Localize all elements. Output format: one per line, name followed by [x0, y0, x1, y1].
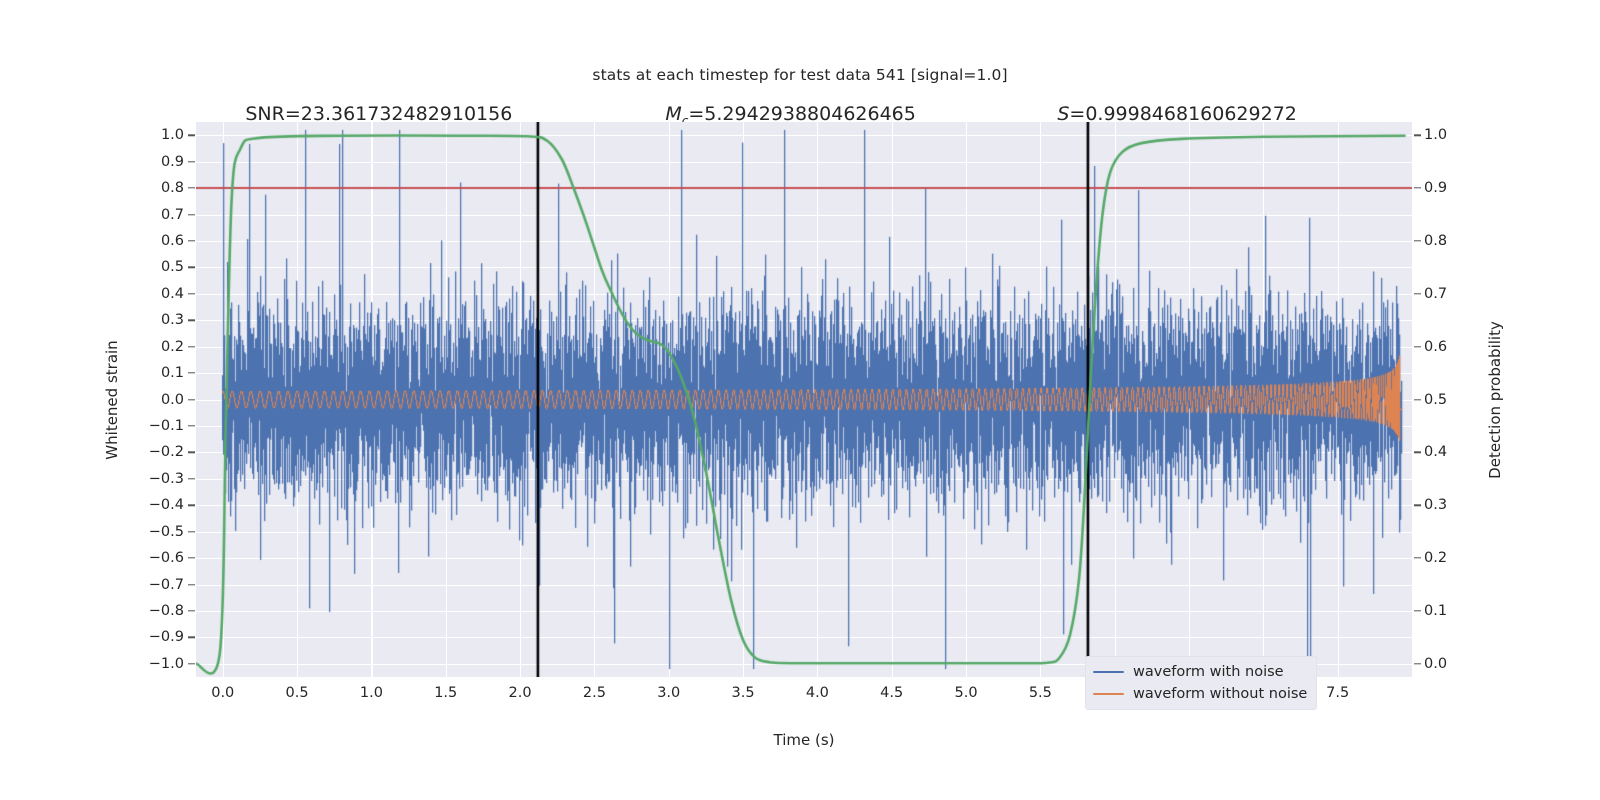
y-tick-mark-left: [188, 372, 195, 373]
y-tick-mark-left: [188, 267, 195, 268]
y-tick-label-left: −0.8: [149, 603, 184, 619]
y-tick-mark-left: [188, 663, 195, 664]
y-tick-label-right: 0.3: [1424, 497, 1447, 513]
y-tick-label-left: −1.0: [149, 656, 184, 672]
y-tick-label-right: 0.1: [1424, 603, 1447, 619]
y-tick-label-left: −0.9: [149, 629, 184, 645]
y-tick-label-left: 0.8: [161, 180, 184, 196]
y-tick-mark-right: [1414, 240, 1421, 241]
x-tick-label: 7.5: [1326, 685, 1349, 701]
legend-label-without-noise: waveform without noise: [1133, 686, 1307, 702]
legend: waveform with noise waveform without noi…: [1085, 656, 1317, 710]
y-tick-label-right: 1.0: [1424, 127, 1447, 143]
y-tick-mark-left: [188, 557, 195, 558]
x-tick-label: 5.5: [1029, 685, 1052, 701]
y-tick-label-left: 0.1: [161, 365, 184, 381]
y-tick-label-left: 0.0: [161, 392, 184, 408]
y-tick-mark-left: [188, 584, 195, 585]
x-tick-label: 5.0: [955, 685, 978, 701]
y-tick-mark-left: [188, 478, 195, 479]
y-axis-label-left: Whitened strain: [103, 340, 121, 459]
y-axis-label-right: Detection probability: [1486, 321, 1504, 479]
y-tick-label-left: 0.6: [161, 233, 184, 249]
y-tick-label-right: 0.0: [1424, 656, 1447, 672]
y-tick-label-left: −0.2: [149, 444, 184, 460]
y-tick-mark-right: [1414, 557, 1421, 558]
waveform-plot: [196, 122, 1412, 677]
y-tick-mark-left: [188, 161, 195, 162]
y-tick-mark-left: [188, 399, 195, 400]
y-tick-mark-right: [1414, 187, 1421, 188]
y-tick-label-left: 0.4: [161, 286, 184, 302]
y-tick-label-right: 0.2: [1424, 550, 1447, 566]
legend-label-with-noise: waveform with noise: [1133, 664, 1284, 680]
y-tick-mark-left: [188, 452, 195, 453]
y-tick-mark-left: [188, 610, 195, 611]
x-tick-label: 3.0: [657, 685, 680, 701]
y-tick-label-left: 0.3: [161, 312, 184, 328]
x-tick-label: 1.0: [360, 685, 383, 701]
x-tick-label: 3.5: [732, 685, 755, 701]
y-tick-label-left: −0.5: [149, 524, 184, 540]
y-tick-label-right: 0.5: [1424, 392, 1447, 408]
y-tick-label-left: −0.7: [149, 577, 184, 593]
y-tick-mark-left: [188, 240, 195, 241]
y-tick-label-left: 0.5: [161, 259, 184, 275]
legend-item[interactable]: waveform with noise: [1093, 662, 1307, 682]
x-tick-label: 2.0: [509, 685, 532, 701]
y-tick-label-left: −0.4: [149, 497, 184, 513]
y-tick-label-left: −0.1: [149, 418, 184, 434]
legend-swatch-without-noise: [1093, 693, 1124, 696]
y-tick-label-right: 0.6: [1424, 339, 1447, 355]
y-tick-label-left: −0.6: [149, 550, 184, 566]
y-tick-mark-right: [1414, 399, 1421, 400]
y-tick-label-left: 0.7: [161, 207, 184, 223]
y-tick-mark-left: [188, 135, 195, 136]
x-tick-label: 1.5: [434, 685, 457, 701]
y-tick-mark-left: [188, 187, 195, 188]
y-tick-mark-right: [1414, 293, 1421, 294]
x-axis-label: Time (s): [774, 731, 835, 749]
legend-item[interactable]: waveform without noise: [1093, 684, 1307, 704]
y-tick-label-right: 0.4: [1424, 444, 1447, 460]
y-tick-mark-left: [188, 531, 195, 532]
y-tick-mark-right: [1414, 663, 1421, 664]
y-tick-mark-right: [1414, 135, 1421, 136]
y-tick-mark-left: [188, 346, 195, 347]
y-tick-label-left: 0.9: [161, 154, 184, 170]
x-tick-label: 2.5: [583, 685, 606, 701]
y-tick-mark-left: [188, 425, 195, 426]
y-tick-mark-left: [188, 214, 195, 215]
y-tick-mark-right: [1414, 505, 1421, 506]
y-tick-label-left: −0.3: [149, 471, 184, 487]
x-tick-label: 0.5: [286, 685, 309, 701]
y-tick-label-right: 0.8: [1424, 233, 1447, 249]
y-tick-mark-left: [188, 637, 195, 638]
figure-canvas: stats at each timestep for test data 541…: [0, 0, 1600, 800]
plot-area: [196, 122, 1412, 677]
x-tick-label: 4.5: [880, 685, 903, 701]
y-tick-mark-left: [188, 293, 195, 294]
x-tick-label: 0.0: [211, 685, 234, 701]
y-tick-label-right: 0.9: [1424, 180, 1447, 196]
chart-title: stats at each timestep for test data 541…: [0, 66, 1600, 84]
y-tick-mark-right: [1414, 346, 1421, 347]
y-tick-mark-left: [188, 505, 195, 506]
legend-swatch-with-noise: [1093, 671, 1124, 674]
y-tick-label-left: 1.0: [161, 127, 184, 143]
y-tick-label-left: 0.2: [161, 339, 184, 355]
y-tick-mark-left: [188, 320, 195, 321]
x-tick-label: 4.0: [806, 685, 829, 701]
y-tick-mark-right: [1414, 452, 1421, 453]
y-tick-label-right: 0.7: [1424, 286, 1447, 302]
y-tick-mark-right: [1414, 610, 1421, 611]
